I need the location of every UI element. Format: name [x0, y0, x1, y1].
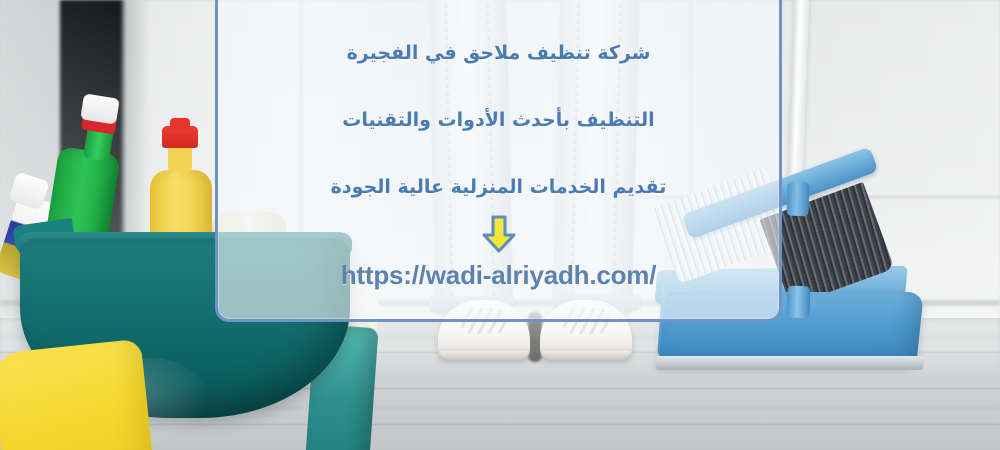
headline-tertiary: تقديم الخدمات المنزلية عالية الجودة — [215, 176, 782, 199]
down-arrow-icon — [479, 214, 519, 254]
yellow-rubber-glove — [0, 339, 159, 450]
headline-primary: شركة تنظيف ملاحق في الفجيرة — [215, 42, 782, 65]
shoe-sole — [440, 351, 528, 360]
website-url[interactable]: https://wadi-alriyadh.com/ — [341, 260, 657, 291]
headline-secondary: التنظيف بأحدث الأدوات والتقنيات — [215, 109, 782, 132]
overlay-text-block: شركة تنظيف ملاحق في الفجيرة التنظيف بأحد… — [215, 0, 782, 322]
bottle-cap — [80, 93, 120, 124]
banner-image: شركة تنظيف ملاحق في الفجيرة التنظيف بأحد… — [0, 0, 1000, 450]
bottle-nozzle — [170, 118, 190, 130]
dustpan-lip — [655, 356, 924, 370]
shoe-sole — [542, 351, 630, 360]
broom-collar — [786, 182, 809, 217]
dustpan-collar — [786, 286, 810, 319]
